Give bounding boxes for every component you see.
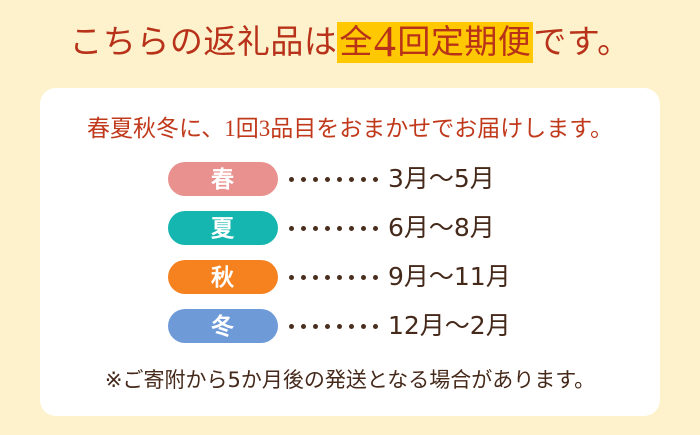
leader-dot-icon [301,177,306,182]
dotted-leader [289,275,378,280]
leader-dot-icon [337,226,342,231]
leader-dot-icon [373,226,378,231]
list-item: 春 3月〜5月 [40,162,660,196]
season-months: 12月〜2月 [388,312,511,340]
season-badge-autumn: 秋 [168,260,278,294]
leader-dot-icon [325,275,330,280]
headline-count-number: 4 [373,17,398,66]
headline-prefix: こちらの返礼品は [69,25,337,61]
leader-dot-icon [361,177,366,182]
headline-highlight-before: 全 [339,25,373,61]
dotted-leader [289,226,378,231]
leader-dot-icon [313,226,318,231]
leader-dot-icon [373,177,378,182]
headline-highlight: 全4回定期便 [337,22,533,63]
leader-dot-icon [349,275,354,280]
card-subtitle: 春夏秋冬に、1回3品目をおまかせでお届けします。 [40,114,660,144]
headline-highlight-after: 回定期便 [397,25,531,61]
leader-dot-icon [301,226,306,231]
leader-dot-icon [313,177,318,182]
season-months: 6月〜8月 [388,214,495,242]
leader-dot-icon [373,324,378,329]
leader-dot-icon [361,324,366,329]
leader-dot-icon [349,226,354,231]
leader-dot-icon [361,226,366,231]
leader-dot-icon [289,324,294,329]
list-item: 秋 9月〜11月 [40,260,660,294]
leader-dot-icon [337,275,342,280]
leader-dot-icon [289,275,294,280]
dotted-leader [289,177,378,182]
season-months: 9月〜11月 [388,263,511,291]
leader-dot-icon [325,177,330,182]
leader-dot-icon [301,275,306,280]
dotted-leader [289,324,378,329]
season-schedule-list: 春 3月〜5月 夏 [40,162,660,343]
leader-dot-icon [337,324,342,329]
page-title: こちらの返礼品は全4回定期便です。 [0,22,700,64]
shipping-note: ※ご寄附から5か月後の発送となる場合があります。 [40,366,660,394]
leader-dot-icon [349,324,354,329]
details-card: 春夏秋冬に、1回3品目をおまかせでお届けします。 春 3月〜5月 [40,88,660,416]
season-label: 秋 [211,266,235,289]
leader-dot-icon [337,177,342,182]
leader-dot-icon [289,226,294,231]
season-badge-spring: 春 [168,162,278,196]
list-item: 夏 6月〜8月 [40,211,660,245]
leader-dot-icon [301,324,306,329]
campaign-banner: こちらの返礼品は全4回定期便です。 春夏秋冬に、1回3品目をおまかせでお届けしま… [0,0,700,435]
leader-dot-icon [313,324,318,329]
headline-suffix: です。 [533,25,630,61]
leader-dot-icon [325,226,330,231]
leader-dot-icon [373,275,378,280]
season-label: 春 [211,168,235,191]
leader-dot-icon [289,177,294,182]
season-months: 3月〜5月 [388,165,495,193]
list-item: 冬 12月〜2月 [40,309,660,343]
season-badge-summer: 夏 [168,211,278,245]
leader-dot-icon [313,275,318,280]
season-badge-winter: 冬 [168,309,278,343]
leader-dot-icon [361,275,366,280]
leader-dot-icon [325,324,330,329]
season-label: 夏 [211,217,235,240]
season-label: 冬 [211,315,235,338]
leader-dot-icon [349,177,354,182]
